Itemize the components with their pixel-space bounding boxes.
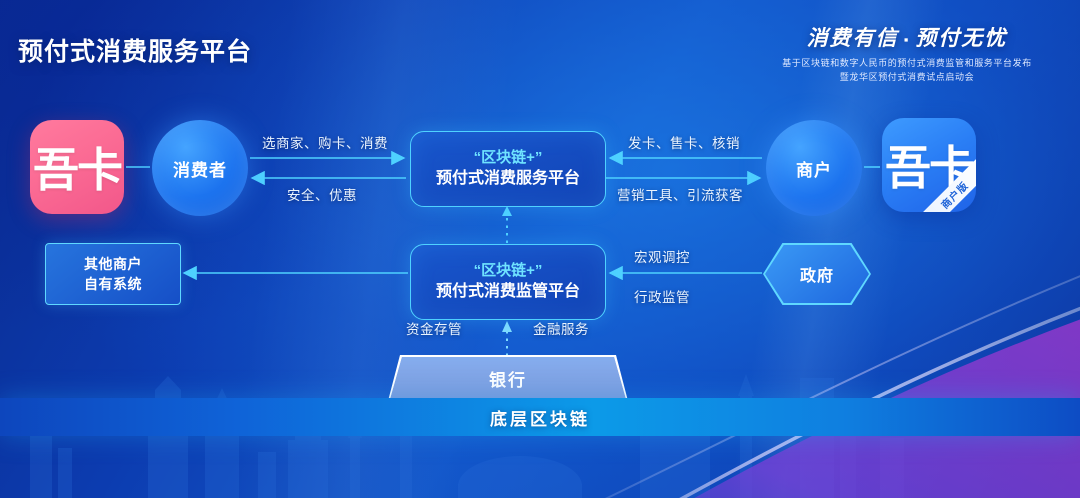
node-government[interactable]: 政府: [765, 245, 869, 303]
node-merchant[interactable]: 商户: [766, 120, 862, 216]
edge-label-platform-to-consumer: 安全、优惠: [287, 184, 357, 204]
subtitle-line-2: 暨龙华区预付式消费试点启动会: [762, 71, 1052, 84]
bottom-blockchain-label: 底层区块链: [490, 405, 590, 430]
node-other-merchant-system[interactable]: 其他商户 自有系统: [45, 243, 181, 305]
merchant-app-icon: 吾卡 商户版: [882, 118, 976, 212]
node-regulation-platform[interactable]: “区块链+” 预付式消费监管平台: [410, 244, 606, 320]
consumer-app-icon-glyph: 吾卡: [30, 120, 124, 214]
node-service-platform[interactable]: “区块链+” 预付式消费服务平台: [410, 131, 606, 207]
edge-label-government-macro: 宏观调控: [634, 246, 690, 266]
edge-label-platform-to-merchant: 营销工具、引流获客: [617, 184, 743, 204]
edge-label-bank-finance: 金融服务: [533, 318, 589, 338]
slogan-separator-icon: ▪: [904, 32, 911, 47]
edge-label-bank-custody: 资金存管: [406, 318, 462, 338]
node-consumer-label: 消费者: [173, 156, 227, 181]
slogan: 消费有信▪预付无忧: [762, 22, 1052, 52]
slide-canvas: 预付式消费服务平台 消费有信▪预付无忧 基于区块链和数字人民币的预付式消费监管和…: [0, 0, 1080, 498]
node-bank[interactable]: 银行: [390, 357, 626, 399]
node-consumer[interactable]: 消费者: [152, 120, 248, 216]
edge-label-consumer-to-platform: 选商家、购卡、消费: [262, 132, 388, 152]
edge-label-government-admin: 行政监管: [634, 286, 690, 306]
consumer-app-icon: 吾卡: [30, 120, 124, 214]
node-merchant-label: 商户: [796, 156, 832, 181]
node-bank-label: 银行: [489, 366, 527, 391]
regulation-platform-line-1: “区块链+”: [474, 261, 543, 281]
slogan-block: 消费有信▪预付无忧 基于区块链和数字人民币的预付式消费监管和服务平台发布 暨龙华…: [762, 22, 1052, 84]
other-merchant-line-1: 其他商户: [84, 254, 142, 274]
bottom-blockchain-bar: 底层区块链: [0, 398, 1080, 436]
service-platform-line-2: 预付式消费服务平台: [436, 168, 580, 190]
regulation-platform-line-2: 预付式消费监管平台: [436, 281, 580, 303]
slogan-left-text: 消费有信: [807, 27, 899, 50]
edge-label-merchant-to-platform: 发卡、售卡、核销: [628, 132, 740, 152]
node-government-label: 政府: [800, 262, 834, 286]
other-merchant-line-2: 自有系统: [84, 274, 142, 294]
subtitle-line-1: 基于区块链和数字人民币的预付式消费监管和服务平台发布: [762, 57, 1052, 70]
service-platform-line-1: “区块链+”: [474, 148, 543, 168]
slogan-right-text: 预付无忧: [915, 27, 1007, 50]
page-title: 预付式消费服务平台: [18, 32, 252, 68]
